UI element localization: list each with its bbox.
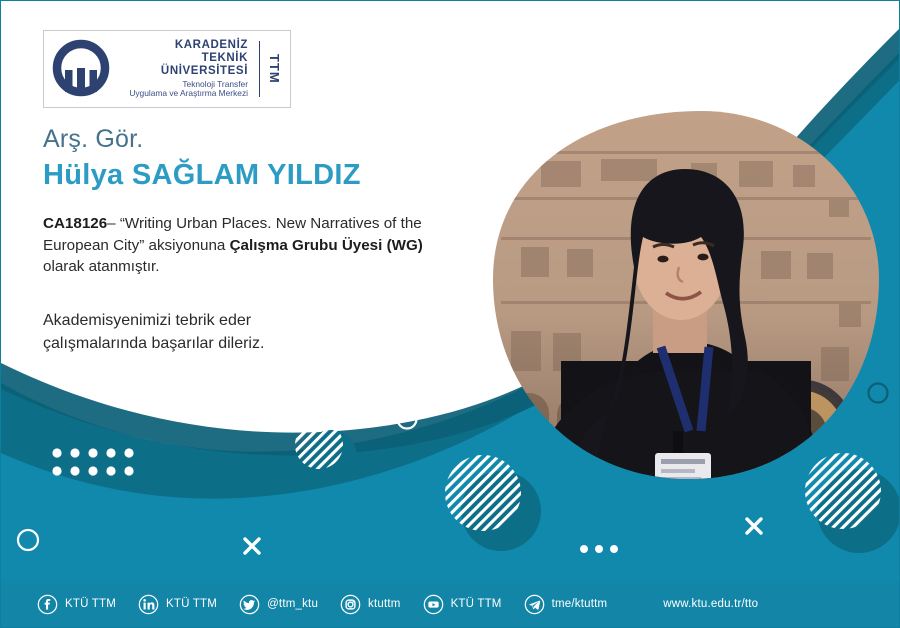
logo-divider (259, 41, 260, 97)
body-after: olarak atanmıştır. (43, 258, 160, 275)
congratulations-message: Akademisyenimizi tebrik eder çalışmaları… (43, 309, 383, 355)
three-dots-decoration (580, 545, 618, 553)
social-youtube[interactable]: KTÜ TTM (423, 594, 502, 615)
wish-line-1: Akademisyenimizi tebrik eder (43, 309, 383, 332)
instagram-label: ktuttm (368, 598, 401, 610)
linkedin-label: KTÜ TTM (166, 598, 217, 610)
social-footer: KTÜ TTM KTÜ TTM @ttm_ktu (1, 581, 900, 627)
wish-line-2: çalışmalarında başarılar dileriz. (43, 332, 383, 355)
logo-line-4: Uygulama ve Araştırma Merkezi (112, 89, 248, 98)
instagram-icon (340, 594, 361, 615)
body-role-bold: Çalışma Grubu Üyesi (WG) (230, 237, 423, 254)
logo-ttm-badge: TTM (267, 54, 282, 84)
social-linkedin[interactable]: KTÜ TTM (138, 594, 217, 615)
linkedin-icon (138, 594, 159, 615)
striped-circle (295, 421, 343, 469)
youtube-icon (423, 594, 444, 615)
academic-name: Hülya SAĞLAM YILDIZ (43, 159, 361, 192)
announcement-body: CA18126– “Writing Urban Places. New Narr… (43, 213, 455, 278)
academic-role: Arş. Gör. (43, 125, 143, 154)
twitter-label: @ttm_ktu (267, 598, 318, 610)
social-twitter[interactable]: @ttm_ktu (239, 594, 318, 615)
facebook-label: KTÜ TTM (65, 598, 116, 610)
social-instagram[interactable]: ktuttm (340, 594, 401, 615)
telegram-label: tme/ktuttm (552, 598, 608, 610)
twitter-icon (239, 594, 260, 615)
social-telegram[interactable]: tme/ktuttm (524, 594, 608, 615)
website-url[interactable]: www.ktu.edu.tr/tto (663, 598, 758, 610)
logo-line-1: KARADENİZ (112, 39, 248, 52)
action-code: CA18126 (43, 215, 107, 232)
social-facebook[interactable]: KTÜ TTM (37, 594, 116, 615)
youtube-label: KTÜ TTM (451, 598, 502, 610)
facebook-icon (37, 594, 58, 615)
telegram-icon (524, 594, 545, 615)
logo-line-2: TEKNİK ÜNİVERSİTESİ (112, 52, 248, 78)
announcement-poster: KARADENİZ TEKNİK ÜNİVERSİTESİ Teknoloji … (0, 0, 900, 628)
ktu-ttm-logo: KARADENİZ TEKNİK ÜNİVERSİTESİ Teknoloji … (43, 30, 291, 108)
ktu-ring-mark-icon (50, 38, 112, 100)
